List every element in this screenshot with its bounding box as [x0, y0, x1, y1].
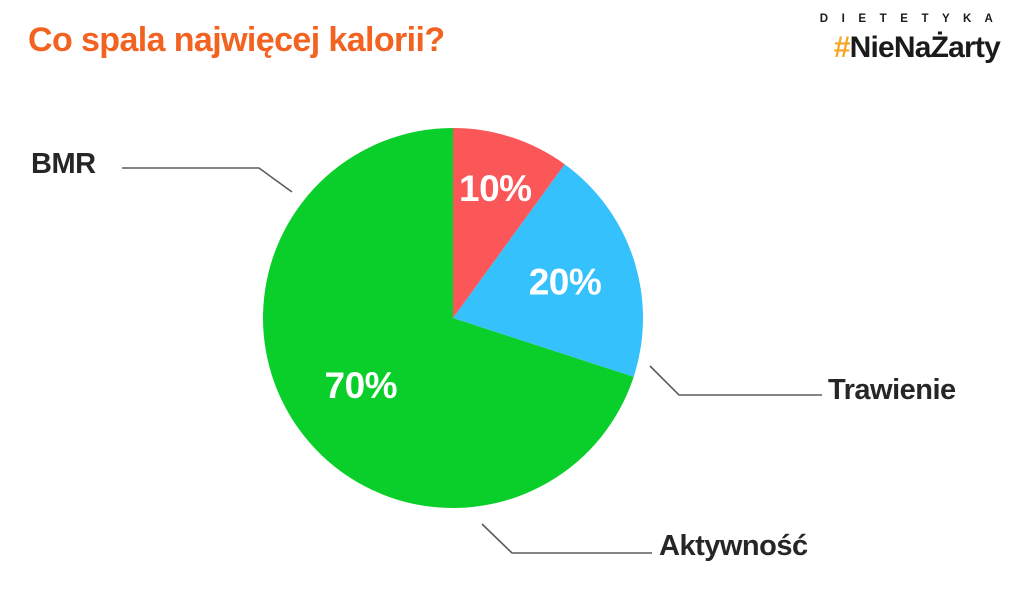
pie-chart: 70% 20% 10%	[0, 0, 1024, 594]
callout-label-trawienie: Trawienie	[828, 374, 956, 407]
leader-line-bmr	[122, 168, 292, 192]
callout-label-bmr: BMR	[31, 148, 96, 181]
infographic-canvas: Co spala najwięcej kalorii? D I E T E T …	[0, 0, 1024, 594]
callout-label-aktywnosc: Aktywność	[659, 530, 808, 563]
pie-value-label-bmr: 70%	[325, 365, 398, 406]
leader-line-aktywnosc	[482, 524, 652, 553]
pie-value-label-aktywnosc: 20%	[529, 262, 602, 303]
leader-line-trawienie	[650, 366, 822, 395]
pie-value-label-trawienie: 10%	[459, 168, 532, 209]
